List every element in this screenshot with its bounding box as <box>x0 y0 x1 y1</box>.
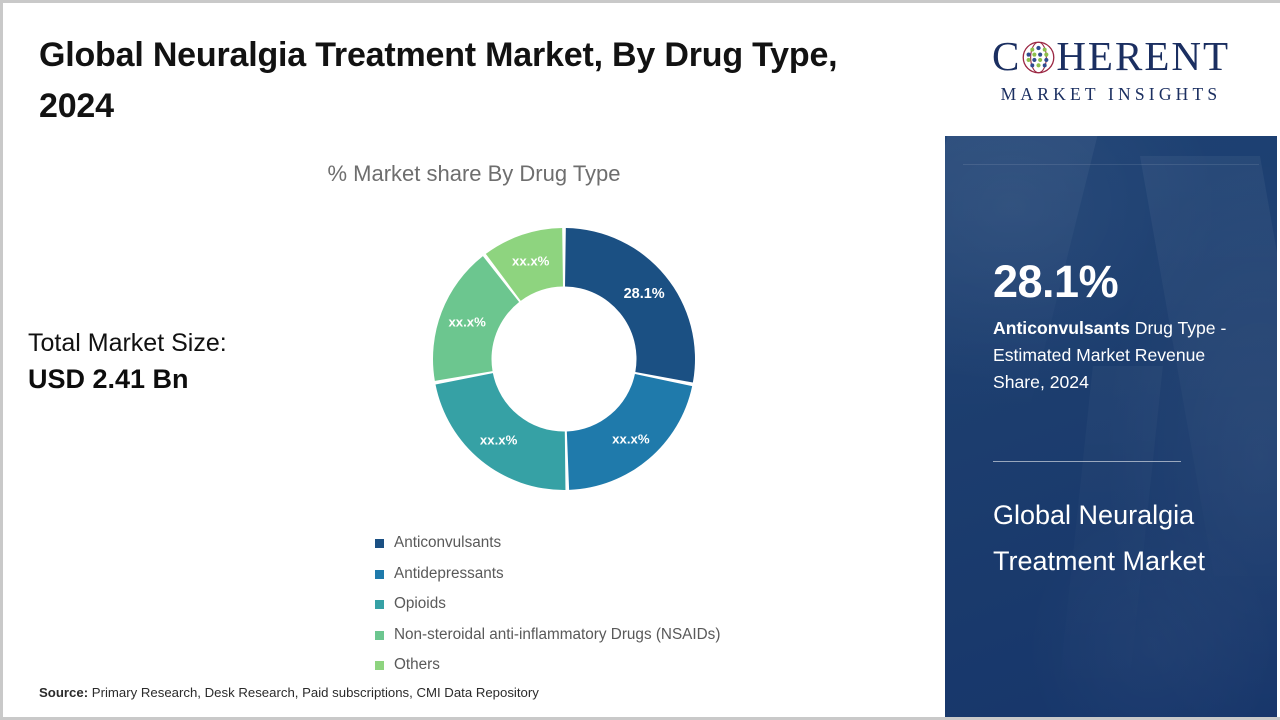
highlight-panel: 28.1% Anticonvulsants Drug Type - Estima… <box>945 136 1277 717</box>
donut-slice-label: xx.x% <box>512 254 550 269</box>
stat-highlight: Anticonvulsants <box>993 318 1130 338</box>
legend-swatch-icon <box>375 539 384 548</box>
logo-text-herent: HERENT <box>1056 36 1230 77</box>
donut-slice-label: xx.x% <box>448 315 486 330</box>
legend-item[interactable]: Antidepressants <box>375 559 935 590</box>
stat-description: Anticonvulsants Drug Type - Estimated Ma… <box>993 315 1255 396</box>
chart-legend: AnticonvulsantsAntidepressantsOpioidsNon… <box>375 528 935 681</box>
donut-slice-group <box>433 228 695 490</box>
chart-title: % Market share By Drug Type <box>3 161 945 187</box>
donut-slice-label: xx.x% <box>612 431 650 446</box>
panel-title: Global Neuralgia Treatment Market <box>993 493 1243 585</box>
donut-slice-label: xx.x% <box>480 433 518 448</box>
source-note: Source: Primary Research, Desk Research,… <box>39 685 539 700</box>
logo-wordmark: C <box>992 34 1230 78</box>
panel-divider <box>993 461 1181 462</box>
legend-swatch-icon <box>375 570 384 579</box>
logo-subtitle: MARKET INSIGHTS <box>1001 84 1222 105</box>
legend-label: Antidepressants <box>394 565 504 583</box>
page-title: Global Neuralgia Treatment Market, By Dr… <box>39 30 859 132</box>
source-label: Source: <box>39 685 88 700</box>
legend-swatch-icon <box>375 631 384 640</box>
legend-label: Opioids <box>394 595 446 613</box>
legend-label: Others <box>394 656 440 674</box>
logo-letter-c: C <box>992 36 1021 77</box>
donut-slice[interactable] <box>565 228 695 383</box>
donut-chart-svg: 28.1%xx.x%xx.x%xx.x%xx.x% <box>433 228 695 490</box>
market-size-label: Total Market Size: <box>28 325 328 361</box>
legend-item[interactable]: Anticonvulsants <box>375 528 935 559</box>
legend-item[interactable]: Non-steroidal anti-inflammatory Drugs (N… <box>375 620 935 651</box>
legend-swatch-icon <box>375 661 384 670</box>
globe-sphere-icon <box>1022 41 1055 74</box>
infographic-page: Global Neuralgia Treatment Market, By Dr… <box>0 0 1280 720</box>
legend-label: Anticonvulsants <box>394 534 501 552</box>
stat-value: 28.1% <box>993 258 1255 305</box>
main-content: Global Neuralgia Treatment Market, By Dr… <box>3 3 945 717</box>
key-statistic: 28.1% Anticonvulsants Drug Type - Estima… <box>993 258 1255 396</box>
donut-chart: 28.1%xx.x%xx.x%xx.x%xx.x% <box>433 228 695 490</box>
source-text: Primary Research, Desk Research, Paid su… <box>92 685 539 700</box>
right-panel: C <box>945 3 1277 717</box>
legend-label: Non-steroidal anti-inflammatory Drugs (N… <box>394 626 720 644</box>
legend-swatch-icon <box>375 600 384 609</box>
legend-item[interactable]: Opioids <box>375 589 935 620</box>
legend-item[interactable]: Others <box>375 650 935 681</box>
donut-slice-label: 28.1% <box>624 286 665 302</box>
brand-logo: C <box>945 3 1277 136</box>
market-size-value: USD 2.41 Bn <box>28 361 328 399</box>
total-market-size: Total Market Size: USD 2.41 Bn <box>28 325 328 399</box>
background-shape <box>963 164 1259 165</box>
